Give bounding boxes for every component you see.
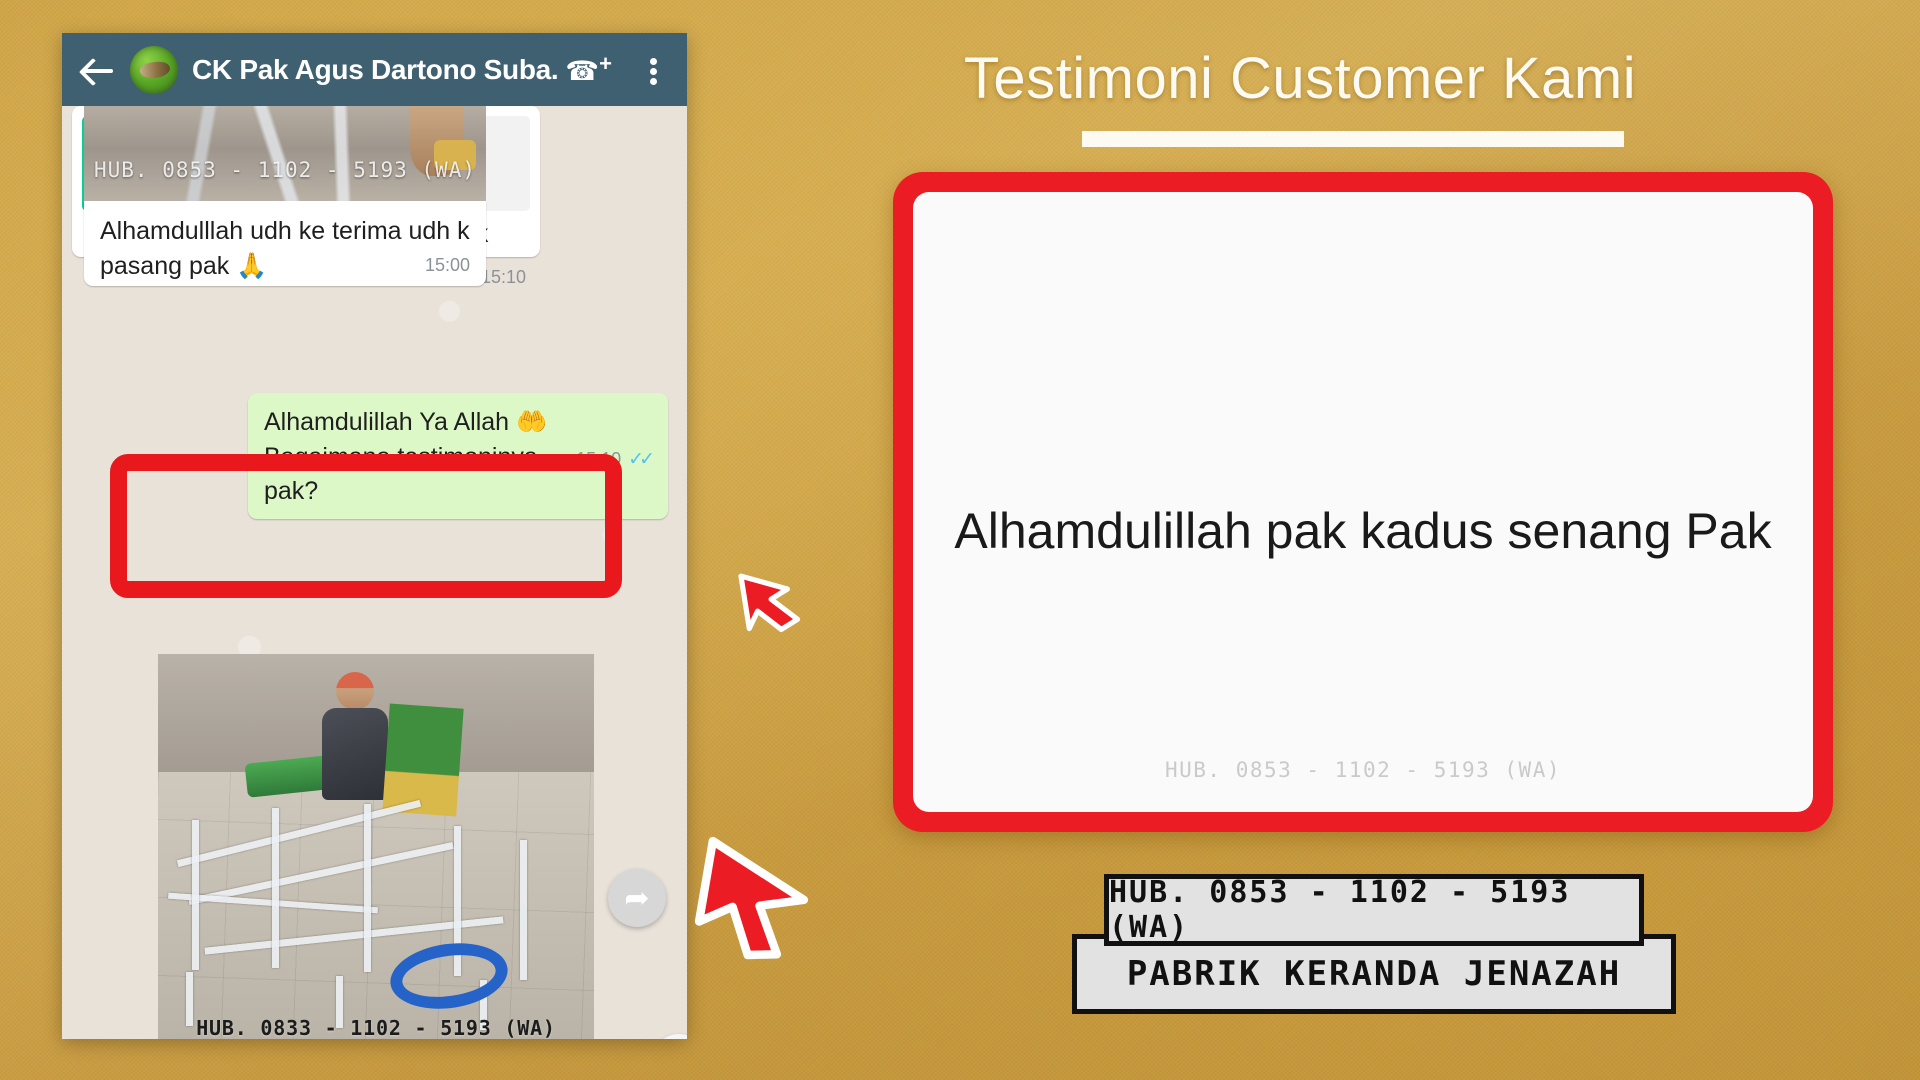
message-text-line1: Alhamdulillah Ya Allah 🤲	[264, 405, 650, 440]
contact-phone-tag: HUB. 0853 - 1102 - 5193 (WA)	[1104, 874, 1644, 946]
message-time: 15:00	[425, 255, 470, 276]
photo-stretcher-trolley	[168, 804, 578, 1034]
message-text-line2: Bagaimana testimoninya pak?	[264, 440, 562, 509]
testimonial-quote: Alhamdulillah pak kadus senang Pak	[953, 502, 1773, 560]
brand-tag: PABRIK KERANDA JENAZAH	[1072, 934, 1676, 1014]
chat-message-incoming-1[interactable]: Alhamdulllah udh ke terima udh k pasang …	[84, 201, 486, 286]
phone-add-icon[interactable]: ☎+	[573, 50, 613, 90]
brand-tag-text: PABRIK KERANDA JENAZAH	[1127, 954, 1621, 994]
title-underline	[1082, 131, 1624, 147]
message-time: 15:10	[481, 267, 526, 288]
chat-photo-main[interactable]: HUB. 0833 - 1102 - 5193 (WA)	[158, 654, 594, 1039]
chat-message-list[interactable]: HUB. 0853 - 1102 - 5193 (WA) Alhamdullla…	[62, 106, 687, 1039]
testimonial-watermark: HUB. 0853 - 1102 - 5193 (WA)	[913, 758, 1813, 782]
photo-watermark: HUB. 0833 - 1102 - 5193 (WA)	[158, 1016, 594, 1039]
chat-photo-top[interactable]: HUB. 0853 - 1102 - 5193 (WA)	[84, 106, 486, 201]
photo-watermark: HUB. 0853 - 1102 - 5193 (WA)	[84, 158, 486, 182]
overflow-menu-icon[interactable]	[639, 50, 669, 90]
red-cursor-arrow-icon	[682, 832, 823, 968]
double-chevron-down-icon[interactable]: ⌄⌄	[652, 1034, 687, 1039]
contact-phone-text: HUB. 0853 - 1102 - 5193 (WA)	[1109, 875, 1639, 945]
contact-avatar[interactable]	[130, 46, 178, 94]
whatsapp-header: CK Pak Agus Dartono Suba... ☎+	[62, 33, 687, 106]
chat-message-outgoing-1[interactable]: Alhamdulillah Ya Allah 🤲 Bagaimana testi…	[248, 393, 668, 519]
message-time: 15:10	[576, 449, 621, 470]
testimonial-card: Alhamdulillah pak kadus senang Pak HUB. …	[893, 172, 1833, 832]
forward-arrow-icon[interactable]: ➦	[608, 869, 666, 927]
back-arrow-icon[interactable]	[82, 55, 116, 85]
page-title: Testimoni Customer Kami	[880, 45, 1720, 112]
photo-flag	[382, 704, 463, 817]
chat-contact-name: CK Pak Agus Dartono Suba...	[192, 54, 559, 86]
read-receipt-icon: ✓✓	[628, 448, 650, 471]
red-pointer-arrow-icon	[708, 554, 810, 656]
message-meta: 15:10 ✓✓	[576, 448, 650, 471]
whatsapp-screenshot-panel: CK Pak Agus Dartono Suba... ☎+ HUB. 0853…	[62, 33, 687, 1039]
testimonial-card-inner: Alhamdulillah pak kadus senang Pak HUB. …	[913, 192, 1813, 812]
